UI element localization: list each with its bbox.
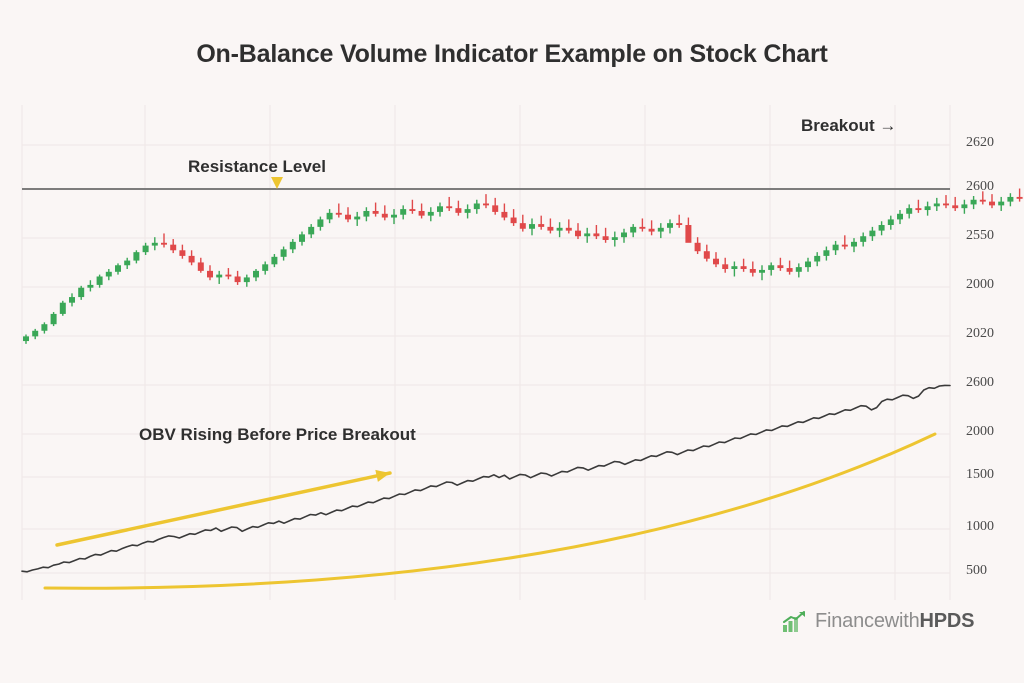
stock-chart-graphic <box>0 0 1024 683</box>
annotation-breakout: Breakout → <box>801 116 896 136</box>
chart-canvas: On-Balance Volume Indicator Example on S… <box>0 0 1024 683</box>
axis-tick-label: 2600 <box>966 179 994 195</box>
obv-line-series <box>22 385 950 571</box>
bar-chart-growth-icon <box>782 611 806 633</box>
axis-tick-label: 2550 <box>966 228 994 244</box>
axis-tick-label: 2020 <box>966 326 994 342</box>
axis-tick-label: 2620 <box>966 135 994 151</box>
watermark-text: FinancewithHPDS <box>815 610 974 633</box>
watermark-logo: FinancewithHPDS <box>782 610 974 633</box>
axis-tick-label: 1500 <box>966 467 994 483</box>
trend-arrows <box>45 177 935 588</box>
axis-tick-label: 2600 <box>966 375 994 391</box>
page-title: On-Balance Volume Indicator Example on S… <box>0 40 1024 69</box>
annotation-resistance-level: Resistance Level <box>188 157 326 177</box>
candlestick-series <box>23 121 1024 344</box>
axis-tick-label: 2000 <box>966 277 994 293</box>
axis-tick-label: 500 <box>966 563 987 579</box>
annotation-obv-rising: OBV Rising Before Price Breakout <box>139 425 416 445</box>
axis-tick-label: 2000 <box>966 424 994 440</box>
axis-tick-label: 1000 <box>966 519 994 535</box>
grid-lines <box>22 105 950 600</box>
